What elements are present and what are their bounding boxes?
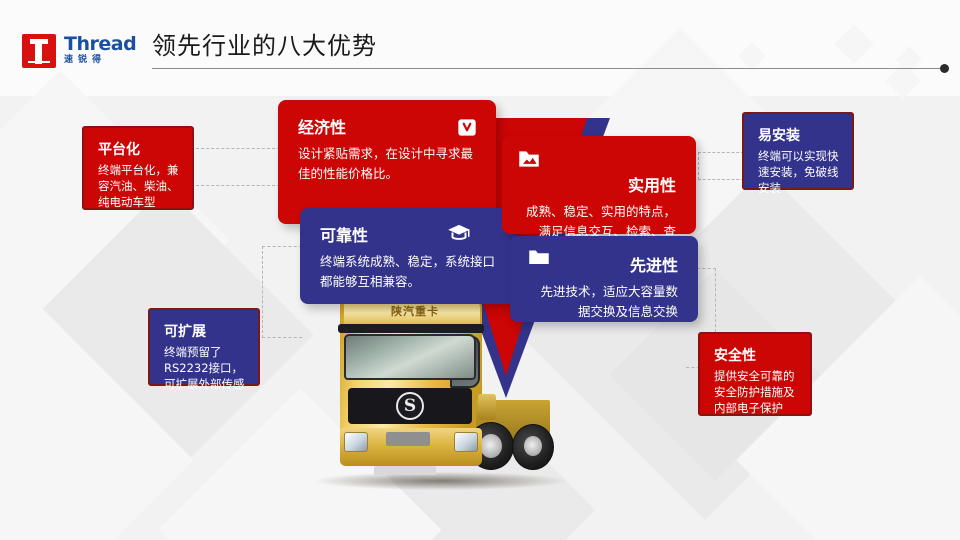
thread-logo-mark-icon	[22, 34, 56, 68]
photo-icon	[516, 146, 542, 172]
card-easyinstall[interactable]: 易安装 终端可以实现快速安装，免破线安装	[742, 112, 854, 190]
card-easyinstall-title: 易安装	[758, 126, 840, 146]
truck-hub-2	[524, 436, 542, 456]
card-easyinstall-body: 终端可以实现快速安装，免破线安装	[758, 148, 840, 196]
card-expand[interactable]: 可扩展 终端预留了RS2232接口，可扩展外部传感	[148, 308, 260, 386]
logo-mark-line	[28, 61, 50, 63]
card-expand-title: 可扩展	[164, 322, 246, 342]
truck-headlamp-left	[344, 432, 368, 452]
card-economy-body: 设计紧贴需求，在设计中寻求最佳的性能价格比。	[298, 144, 476, 184]
page-title: 领先行业的八大优势	[152, 26, 377, 61]
truck-license-plate	[386, 432, 430, 446]
card-economy[interactable]: 经济性 设计紧贴需求，在设计中寻求最佳的性能价格比。	[278, 100, 496, 224]
truck-sun-visor	[338, 324, 484, 333]
card-practical[interactable]: 实用性 成熟、稳定、实用的特点，满足信息交互、检索、查询、管理。	[502, 136, 696, 234]
truck-emblem-icon: S	[396, 392, 424, 420]
slide-canvas: Thread 速锐得 领先行业的八大优势 陕汽重卡 S	[0, 0, 960, 540]
connector-platform	[196, 148, 280, 186]
card-economy-title: 经济性	[298, 116, 476, 140]
card-platform-title: 平台化	[98, 140, 180, 160]
card-reliable[interactable]: 可靠性 终端系统成熟、稳定，系统接口都能够互相兼容。	[300, 208, 516, 304]
truck-roof-brand-text: 陕汽重卡	[360, 303, 470, 319]
logo-text-block: Thread 速锐得	[64, 34, 156, 66]
card-advanced-body: 先进技术，适应大容量数据交换及信息交换	[530, 282, 678, 322]
truck-step	[374, 466, 436, 475]
truck-windshield	[344, 334, 476, 380]
truck-hub-1	[480, 434, 502, 458]
card-safety[interactable]: 安全性 提供安全可靠的安全防护措施及内部电子保护	[698, 332, 812, 416]
folder-icon	[526, 244, 552, 270]
logo-chinese-name: 速锐得	[64, 54, 156, 66]
connector-easyinstall	[698, 152, 744, 180]
graduation-cap-icon	[446, 220, 472, 246]
card-reliable-body: 终端系统成熟、稳定，系统接口都能够互相兼容。	[320, 252, 496, 292]
truck-illustration: 陕汽重卡 S	[300, 292, 580, 492]
card-expand-body: 终端预留了RS2232接口，可扩展外部传感	[164, 344, 246, 392]
card-safety-body: 提供安全可靠的安全防护措施及内部电子保护	[714, 368, 798, 416]
basket-icon	[454, 114, 480, 140]
card-platform[interactable]: 平台化 终端平台化，兼容汽油、柴油、纯电动车型	[82, 126, 194, 210]
title-divider	[152, 68, 942, 69]
truck-fuel-tank	[478, 394, 496, 420]
brand-logo[interactable]: Thread 速锐得	[22, 30, 152, 72]
logo-english-name: Thread	[64, 34, 156, 54]
card-advanced[interactable]: 先进性 先进技术，适应大容量数据交换及信息交换	[510, 236, 698, 322]
card-practical-title: 实用性	[522, 174, 676, 198]
card-safety-title: 安全性	[714, 346, 798, 366]
truck-shadow	[316, 472, 566, 490]
card-platform-body: 终端平台化，兼容汽油、柴油、纯电动车型	[98, 162, 180, 210]
title-end-dot	[940, 64, 949, 73]
connector-expand	[262, 246, 302, 338]
truck-headlamp-right	[454, 432, 478, 452]
card-advanced-title: 先进性	[530, 254, 678, 278]
